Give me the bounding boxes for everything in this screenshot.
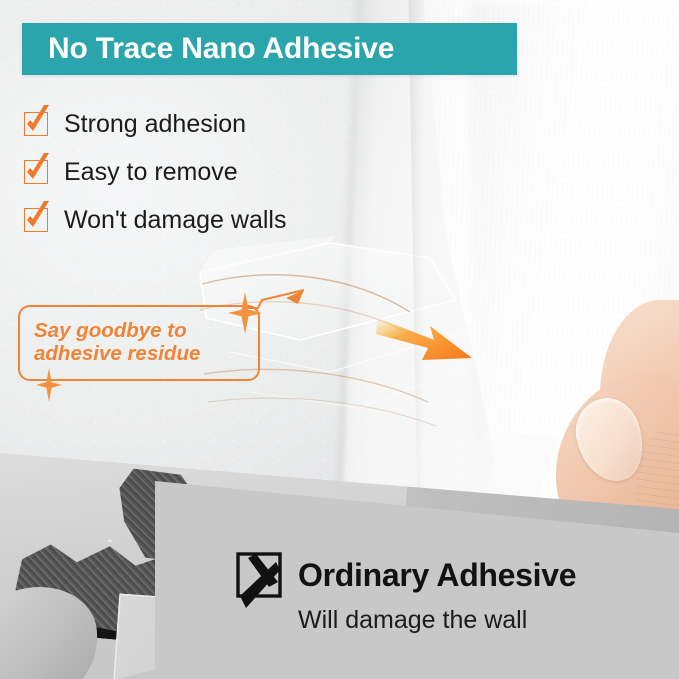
feature-list: Strong adhesion Easy to remove Won't dam… xyxy=(24,100,444,244)
headline-banner: No Trace Nano Adhesive xyxy=(22,23,517,75)
peel-direction-arrow-icon xyxy=(376,296,496,392)
feature-label: Won't damage walls xyxy=(64,206,286,235)
feature-item-strong-adhesion: Strong adhesion xyxy=(24,100,444,148)
product-infographic: No Trace Nano Adhesive Strong adhesion E… xyxy=(0,0,679,679)
sparkle-star-icon xyxy=(228,292,262,334)
x-mark-box-icon xyxy=(236,552,282,598)
feature-label: Strong adhesion xyxy=(64,110,246,139)
feature-item-wont-damage-walls: Won't damage walls xyxy=(24,196,444,244)
callout-text: Say goodbye to adhesive residue xyxy=(20,320,200,366)
ordinary-adhesive-title: Ordinary Adhesive xyxy=(298,557,576,594)
sparkle-star-icon xyxy=(36,368,62,402)
banner-title: No Trace Nano Adhesive xyxy=(22,32,394,66)
checkbox-check-icon xyxy=(24,160,48,184)
checkbox-check-icon xyxy=(24,208,48,232)
ordinary-adhesive-block: Ordinary Adhesive Will damage the wall xyxy=(236,552,656,635)
ordinary-adhesive-subtitle: Will damage the wall xyxy=(298,606,656,635)
feature-label: Easy to remove xyxy=(64,158,238,187)
feature-item-easy-to-remove: Easy to remove xyxy=(24,148,444,196)
ordinary-adhesive-heading: Ordinary Adhesive xyxy=(236,552,656,598)
checkbox-check-icon xyxy=(24,112,48,136)
